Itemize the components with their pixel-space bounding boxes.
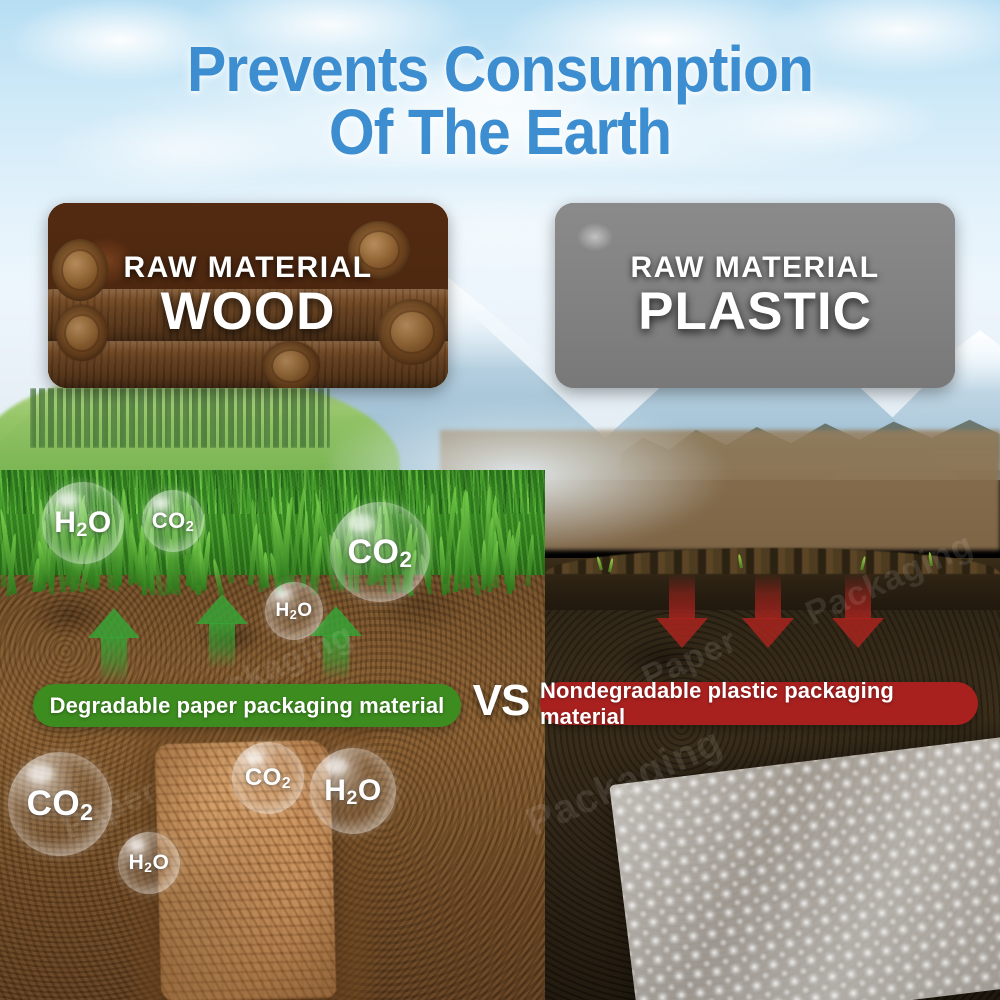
arrow-shaft bbox=[323, 635, 349, 681]
nondegradable-label-pill[interactable]: Nondegradable plastic packaging material bbox=[540, 682, 978, 725]
emission-arrow-up bbox=[196, 594, 248, 678]
raw-material-value: PLASTIC bbox=[638, 285, 872, 339]
pollution-arrow-down bbox=[742, 570, 794, 648]
raw-material-label: RAW MATERIAL bbox=[123, 251, 372, 285]
page-title: Prevents Consumption Of The Earth bbox=[40, 38, 960, 163]
emission-arrow-up bbox=[88, 608, 140, 684]
raw-material-card-wood[interactable]: RAW MATERIAL WOOD bbox=[48, 203, 448, 388]
pollution-arrow-down bbox=[832, 570, 884, 648]
raw-material-card-plastic[interactable]: RAW MATERIAL PLASTIC bbox=[555, 203, 955, 388]
molecule-bubble: CO2 bbox=[330, 502, 430, 602]
grass-blade bbox=[128, 518, 134, 585]
arrow-shaft bbox=[101, 637, 127, 683]
molecule-formula: H2O bbox=[276, 600, 313, 622]
title-line-1: Prevents Consumption bbox=[187, 33, 813, 105]
molecule-bubble: CO2 bbox=[8, 752, 112, 856]
molecule-formula: H2O bbox=[54, 506, 112, 540]
ground-scene bbox=[0, 470, 1000, 1000]
arrow-head bbox=[832, 618, 884, 648]
pollution-arrow-down bbox=[656, 570, 708, 648]
title-line-2: Of The Earth bbox=[40, 101, 960, 164]
arrow-shaft bbox=[669, 573, 695, 619]
arrow-head bbox=[742, 618, 794, 648]
molecule-formula: H2O bbox=[324, 774, 382, 808]
molecule-formula: CO2 bbox=[348, 533, 413, 572]
molecule-formula: CO2 bbox=[152, 508, 195, 534]
nondegradable-label-text: Nondegradable plastic packaging material bbox=[540, 678, 978, 730]
arrow-shaft bbox=[755, 573, 781, 619]
vs-divider: VS bbox=[470, 676, 532, 726]
raw-material-label: RAW MATERIAL bbox=[630, 251, 879, 285]
arrow-head bbox=[656, 618, 708, 648]
arrow-head bbox=[196, 594, 248, 624]
card-text-group: RAW MATERIAL PLASTIC bbox=[555, 203, 955, 388]
arrow-head bbox=[88, 608, 140, 638]
tree-line-left bbox=[30, 388, 330, 448]
infographic-canvas: Prevents Consumption Of The Earth RAW MA… bbox=[0, 0, 1000, 1000]
molecule-formula: CO2 bbox=[27, 784, 94, 824]
molecule-bubble: H2O bbox=[118, 832, 180, 894]
molecule-bubble: H2O bbox=[310, 748, 396, 834]
molecule-bubble: CO2 bbox=[142, 490, 204, 552]
raw-material-value: WOOD bbox=[161, 285, 336, 339]
molecule-formula: CO2 bbox=[245, 764, 291, 792]
degradable-label-pill[interactable]: Degradable paper packaging material bbox=[33, 684, 461, 727]
molecule-bubble: H2O bbox=[265, 582, 323, 640]
molecule-bubble: CO2 bbox=[232, 742, 304, 814]
card-text-group: RAW MATERIAL WOOD bbox=[48, 203, 448, 388]
molecule-bubble: H2O bbox=[42, 482, 124, 564]
arrow-shaft bbox=[845, 573, 871, 619]
molecule-formula: H2O bbox=[129, 851, 170, 875]
degradable-label-text: Degradable paper packaging material bbox=[50, 693, 445, 719]
arrow-shaft bbox=[209, 623, 235, 669]
